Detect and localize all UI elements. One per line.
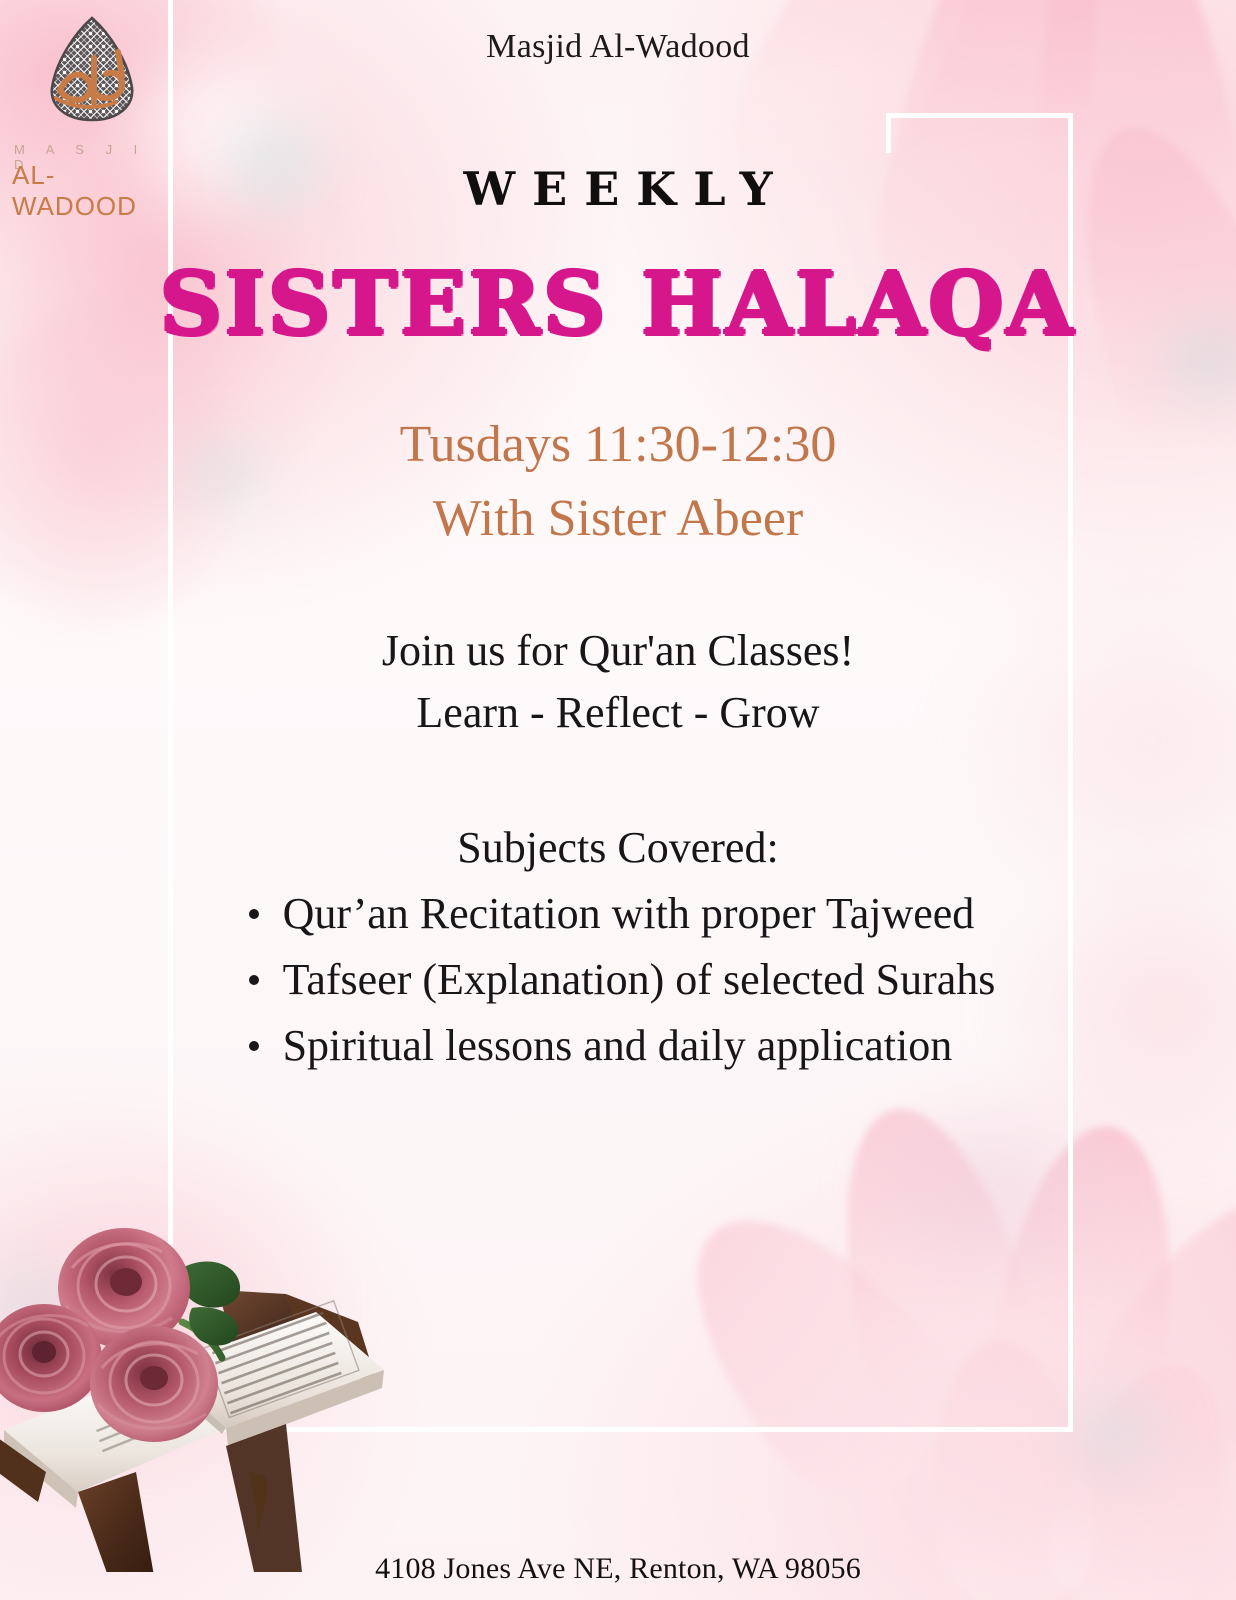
schedule-block: Tusdays 11:30-12:30 With Sister Abeer	[0, 408, 1236, 556]
subjects-block: Subjects Covered: Qur’an Recitation with…	[0, 822, 1236, 1079]
list-item-label: Tafseer (Explanation) of selected Surahs	[283, 955, 996, 1004]
intro-block: Join us for Qur'an Classes! Learn - Refl…	[0, 620, 1236, 745]
list-item: Spiritual lessons and daily application	[241, 1013, 996, 1079]
intro-line-1: Join us for Qur'an Classes!	[0, 620, 1236, 682]
address: 4108 Jones Ave NE, Renton, WA 98056	[0, 1552, 1236, 1586]
list-item: Tafseer (Explanation) of selected Surahs	[241, 947, 996, 1013]
bg-mint-accent-br	[1055, 1390, 1175, 1480]
bg-lotus-petal-2	[978, 1114, 1197, 1465]
frame-line-top-right	[886, 113, 1073, 118]
rose-bottom	[90, 1326, 218, 1442]
subjects-heading: Subjects Covered:	[0, 822, 1236, 873]
bullet-icon	[249, 975, 259, 985]
list-item-label: Qur’an Recitation with proper Tajweed	[283, 889, 975, 938]
schedule-time: Tusdays 11:30-12:30	[0, 408, 1236, 482]
flyer-poster: M A S J I D AL-WADOOD Masjid Al-Wadood W…	[0, 0, 1236, 1600]
bullet-icon	[249, 1041, 259, 1051]
bg-lotus-petal-3	[643, 1170, 988, 1530]
bg-lotus-petal-4	[1056, 1157, 1236, 1513]
schedule-instructor: With Sister Abeer	[0, 482, 1236, 556]
eyebrow-weekly: WEEKLY	[0, 162, 1236, 216]
frame-line-corner-vertical	[886, 113, 891, 153]
list-item: Qur’an Recitation with proper Tajweed	[241, 881, 996, 947]
quran-on-rehal-with-roses-photo	[0, 1172, 416, 1572]
list-item-label: Spiritual lessons and daily application	[283, 1021, 953, 1070]
page-title: SISTERS HALAQA	[0, 254, 1236, 355]
bullet-icon	[249, 909, 259, 919]
subjects-list: Qur’an Recitation with proper Tajweed Ta…	[241, 881, 996, 1079]
bg-wash-bottom-right	[860, 1090, 1120, 1290]
organization-name: Masjid Al-Wadood	[0, 28, 1236, 66]
bg-lotus-petal-1	[808, 1089, 1058, 1452]
intro-line-2: Learn - Reflect - Grow	[0, 682, 1236, 744]
